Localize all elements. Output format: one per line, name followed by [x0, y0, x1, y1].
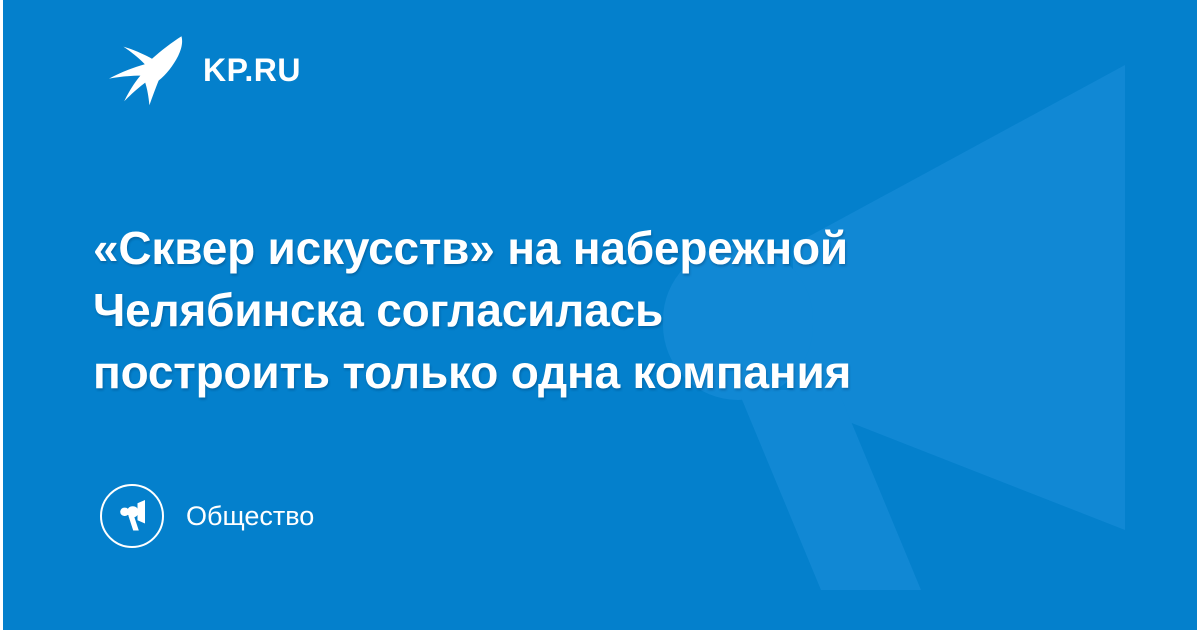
swallow-bird-icon: [107, 34, 185, 106]
headline-line-1: «Сквер искусств» на набережной: [93, 217, 1083, 279]
headline-line-3: построить только одна компания: [93, 341, 1083, 403]
category-label: Общество: [186, 503, 314, 530]
page-title: «Сквер искусств» на набережной Челябинск…: [93, 217, 1083, 403]
category-icon-circle: [100, 484, 164, 548]
megaphone-icon: [115, 499, 149, 533]
share-card: KP.RU «Сквер искусств» на набережной Чел…: [0, 0, 1200, 630]
brand-logo[interactable]: KP.RU: [107, 34, 301, 106]
brand-name: KP.RU: [203, 54, 301, 86]
category-badge[interactable]: Общество: [100, 484, 314, 548]
headline-line-2: Челябинска согласилась: [93, 279, 1083, 341]
